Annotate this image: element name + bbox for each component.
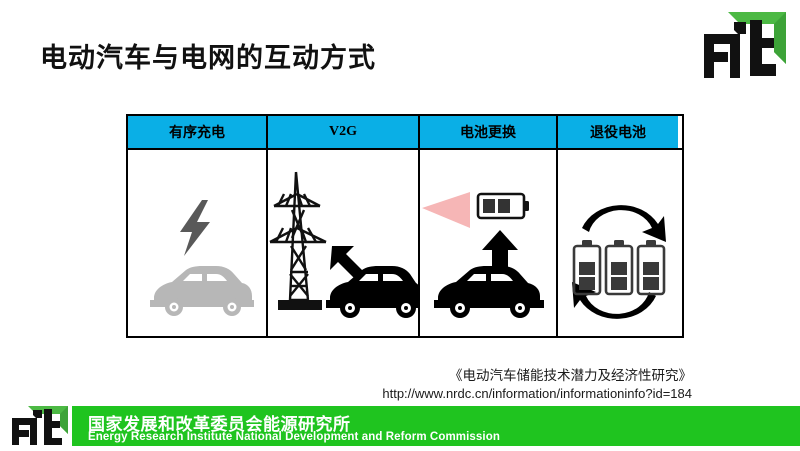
matrix-header-retired-battery[interactable]: 退役电池 [556, 116, 678, 148]
citation-source-title: 《电动汽车储能技术潜力及经济性研究》 [449, 368, 692, 383]
footer-org-name-en: Energy Research Institute National Devel… [88, 431, 500, 443]
matrix-header-row: 有序充电 V2G 电池更换 退役电池 [128, 116, 682, 150]
matrix-cell-retired-battery [556, 150, 678, 338]
eri-logo: ENERGY RESEARCH INSTITUTE [694, 8, 794, 84]
slide-canvas: 电动汽车与电网的互动方式 ENERGY RESEARCH INSTITUTE C… [0, 0, 800, 446]
matrix-cell-v2g [266, 150, 418, 338]
matrix-header-v2g[interactable]: V2G [266, 116, 418, 148]
citation: 《电动汽车储能技术潜力及经济性研究》 http://www.nrdc.cn/in… [0, 364, 692, 401]
battery-horizontal-icon [478, 194, 529, 218]
battery-swap-artwork [420, 150, 556, 338]
battery-vertical-icon-3 [638, 240, 664, 294]
tower-base [278, 300, 322, 310]
pink-triangle-icon [422, 192, 470, 228]
matrix-cell-battery-swap [418, 150, 556, 338]
matrix-cell-ordered-charging [128, 150, 266, 338]
retired-battery-artwork [558, 150, 678, 338]
eri-footer-logo [6, 404, 72, 446]
matrix-header-ordered-charging[interactable]: 有序充电 [128, 116, 266, 148]
interaction-matrix: 有序充电 V2G 电池更换 退役电池 [126, 114, 684, 338]
battery-vertical-icon-2 [606, 240, 632, 294]
transmission-tower-icon [270, 172, 326, 300]
matrix-header-battery-swap[interactable]: 电池更换 [418, 116, 556, 148]
v2g-artwork [268, 150, 418, 338]
matrix-body-row [128, 150, 682, 338]
page-title: 电动汽车与电网的互动方式 [40, 36, 376, 75]
lightning-bolt-icon [180, 200, 210, 256]
ordered-charging-artwork [128, 150, 266, 338]
citation-url[interactable]: http://www.nrdc.cn/information/informati… [0, 386, 692, 401]
